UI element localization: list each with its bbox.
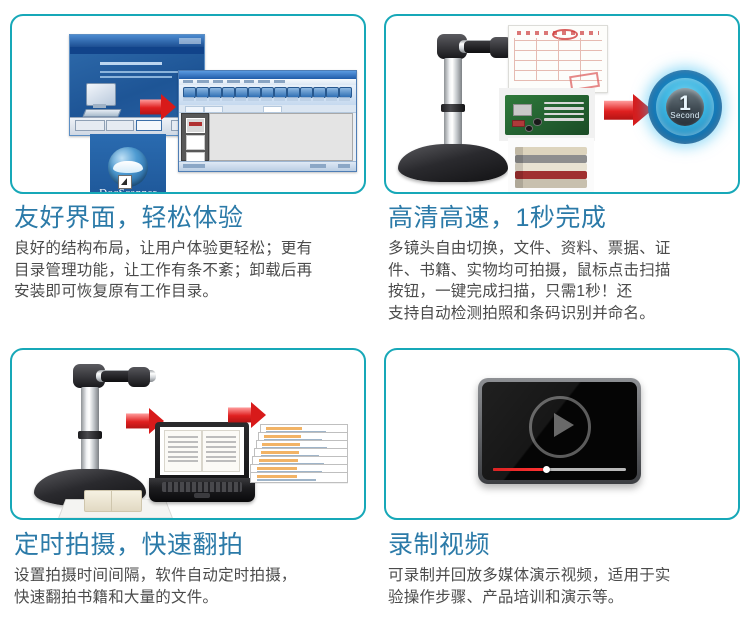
panel-hd-high-speed-text: 高清高速，1秒完成 多镜头自由切换，文件、资料、票据、证 件、书籍、实物均可拍摄… (388, 203, 744, 324)
panel-timed-capture-text: 定时拍摄，快速翻拍 设置拍摄时间间隔，软件自动定时拍摄， 快速翻拍书籍和大量的文… (14, 530, 366, 608)
app-toolbar[interactable] (179, 85, 356, 106)
laptop-showing-scanned-book (149, 422, 255, 502)
docscanner-desktop-icon[interactable]: DocScanner (90, 134, 166, 194)
panel-friendly-interface-image: DocScanner (10, 14, 366, 194)
image-frame-3 (10, 348, 366, 520)
panel-body-1: 良好的结构布局，让用户体验更轻松；更有 目录管理功能，让工作有条不紊；卸载后再 … (14, 238, 366, 303)
video-screen[interactable] (482, 382, 637, 480)
computer-icon (84, 83, 124, 117)
image-frame-1: DocScanner (10, 14, 366, 194)
panel-timed-capture-image (10, 348, 366, 520)
panel-record-video-image (384, 348, 740, 520)
image-frame-2: 1 Second (384, 14, 740, 194)
stacked-books-image (508, 138, 594, 192)
panel-friendly-interface-text: 友好界面，轻松体验 良好的结构布局，让用户体验更轻松；更有 目录管理功能，让工作… (14, 203, 366, 303)
panel-body-2: 多镜头自由切换，文件、资料、票据、证 件、书籍、实物均可拍摄，鼠标点击扫描 按钮… (388, 238, 744, 324)
app-titlebar (179, 71, 356, 79)
wizard-titlebar (70, 35, 204, 47)
feature-grid-page: DocScanner (0, 0, 750, 625)
video-progress-bar[interactable] (493, 468, 626, 471)
red-right-arrow-icon (604, 94, 652, 126)
open-book-on-mat (84, 490, 142, 512)
app-tabbar[interactable] (179, 105, 356, 113)
red-right-arrow-icon (140, 94, 176, 120)
app-canvas[interactable] (209, 113, 353, 161)
invoice-document-image (508, 25, 608, 93)
wizard-back-button[interactable] (106, 120, 134, 131)
wizard-header-band (70, 47, 204, 54)
thumbnail-panel[interactable] (181, 113, 209, 161)
wizard-heading-line (100, 62, 162, 65)
docscanner-main-window (178, 70, 357, 172)
stack-of-scanned-documents (250, 424, 348, 490)
panel-heading-3: 定时拍摄，快速翻拍 (14, 530, 366, 560)
one-second-badge: 1 Second (648, 70, 722, 144)
motherboard-image (499, 88, 595, 141)
panel-body-4: 可录制并回放多媒体演示视频，适用于实 验操作步骤、产品培训和演示等。 (388, 565, 744, 608)
badge-unit: Second (666, 111, 705, 120)
panel-heading-1: 友好界面，轻松体验 (14, 203, 366, 233)
video-player[interactable] (478, 378, 641, 484)
docscanner-icon-label: DocScanner (90, 187, 166, 194)
play-icon[interactable] (529, 396, 591, 458)
wizard-button[interactable] (75, 120, 105, 131)
panel-heading-4: 录制视频 (388, 530, 744, 560)
document-scanner-device (34, 364, 146, 506)
laptop-screen (160, 427, 243, 475)
panel-heading-2: 高清高速，1秒完成 (388, 203, 744, 233)
image-frame-4 (384, 348, 740, 520)
panel-hd-high-speed-image: 1 Second (384, 14, 740, 194)
thumbnail-item[interactable] (186, 118, 205, 133)
panel-record-video-text: 录制视频 可录制并回放多媒体演示视频，适用于实 验操作步骤、产品培训和演示等。 (388, 530, 744, 608)
thumbnail-item[interactable] (186, 135, 205, 150)
wizard-text-line (100, 76, 172, 78)
app-statusbar (179, 161, 356, 171)
wizard-next-button[interactable] (136, 120, 162, 131)
video-progress-fill (493, 468, 546, 471)
document-scanner-device (398, 34, 508, 182)
panel-body-3: 设置拍摄时间间隔，软件自动定时拍摄， 快速翻拍书籍和大量的文件。 (14, 565, 366, 608)
